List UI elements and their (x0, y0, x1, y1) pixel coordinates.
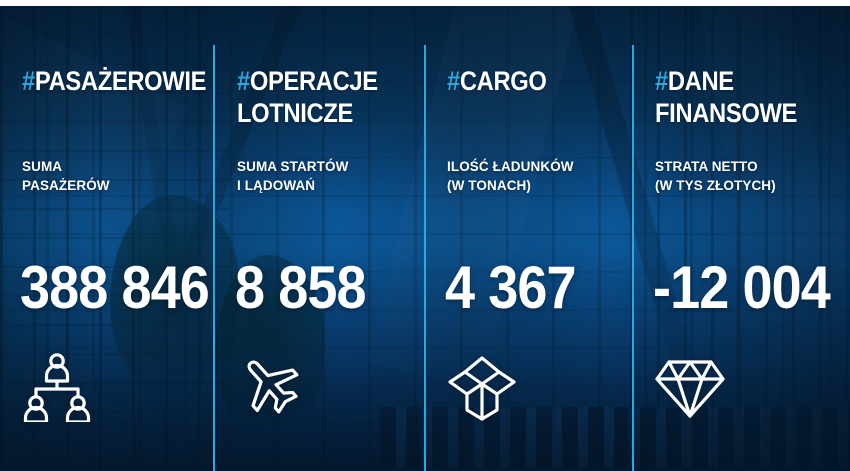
column-divider-3 (632, 45, 634, 471)
column-title-pasazerowie: #PASAŻEROWIE (22, 66, 185, 98)
people-group-icon (22, 352, 92, 422)
column-value-operacje-lotnicze: 8 858 (235, 258, 402, 318)
hash-symbol-icon: # (447, 66, 460, 96)
column-title-text: CARGO (460, 66, 547, 96)
stat-column-operacje-lotnicze: #OPERACJE LOTNICZE SUMA STARTÓW I LĄDOWA… (215, 0, 425, 471)
stat-column-cargo: #CARGO ILOŚĆ ŁADUNKÓW (W TONACH) 4 367 (425, 0, 633, 471)
column-subtitle-pasazerowie: SUMA PASAŻERÓW (22, 158, 207, 195)
column-title-text: DANE FINANSOWE (655, 66, 797, 128)
stat-column-dane-finansowe: #DANE FINANSOWE STRATA NETTO (W TYS ZŁOT… (633, 0, 850, 471)
hash-symbol-icon: # (655, 66, 668, 96)
hash-symbol-icon: # (22, 66, 35, 96)
open-box-icon (447, 352, 517, 422)
column-title-text: PASAŻEROWIE (35, 66, 206, 96)
column-divider-2 (424, 45, 426, 471)
column-value-pasazerowie: 388 846 (20, 258, 192, 318)
top-white-strip (0, 0, 850, 6)
column-subtitle-dane-finansowe: STRATA NETTO (W TYS ZŁOTYCH) (655, 158, 842, 195)
column-subtitle-operacje-lotnicze: SUMA STARTÓW I LĄDOWAŃ (237, 158, 417, 195)
hash-symbol-icon: # (237, 66, 250, 96)
column-value-cargo: 4 367 (445, 258, 611, 318)
column-value-dane-finansowe: -12 004 (653, 258, 827, 318)
column-title-operacje-lotnicze: #OPERACJE LOTNICZE (237, 66, 395, 129)
airplane-icon (237, 352, 307, 422)
column-title-text: OPERACJE LOTNICZE (237, 66, 378, 128)
airport-statistics-infographic: #PASAŻEROWIE SUMA PASAŻERÓW 388 846 #OPE… (0, 0, 850, 471)
column-title-dane-finansowe: #DANE FINANSOWE (655, 66, 820, 129)
column-subtitle-cargo: ILOŚĆ ŁADUNKÓW (W TONACH) (447, 158, 625, 195)
column-title-cargo: #CARGO (447, 66, 604, 98)
column-divider-1 (213, 45, 215, 471)
diamond-icon (655, 352, 725, 422)
stat-column-pasazerowie: #PASAŻEROWIE SUMA PASAŻERÓW 388 846 (0, 0, 215, 471)
